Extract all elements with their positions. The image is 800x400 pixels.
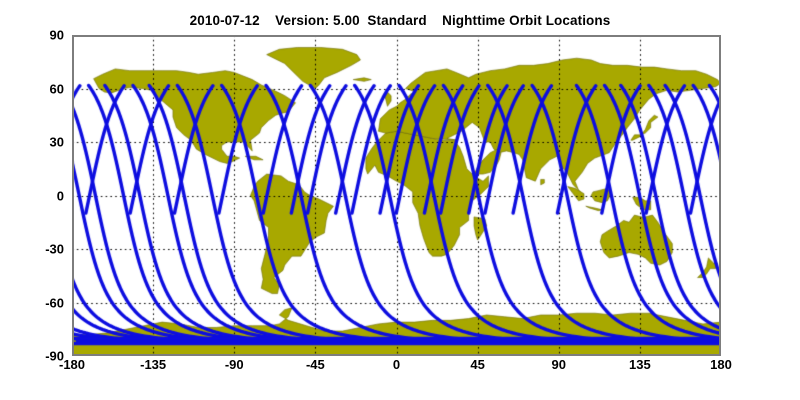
x-tick-label: -180 bbox=[37, 357, 107, 372]
y-tick-label: 0 bbox=[4, 188, 64, 203]
figure-title: 2010-07-12 Version: 5.00 Standard Nightt… bbox=[0, 13, 800, 28]
plot-frame bbox=[72, 35, 721, 356]
x-tick-label: -135 bbox=[118, 357, 188, 372]
x-tick-label: 135 bbox=[605, 357, 675, 372]
y-tick-label: 60 bbox=[4, 81, 64, 96]
x-tick-label: -45 bbox=[280, 357, 350, 372]
y-tick-label: -60 bbox=[4, 295, 64, 310]
x-tick-label: -90 bbox=[199, 357, 269, 372]
plot-area bbox=[72, 35, 721, 356]
y-tick-label: -30 bbox=[4, 242, 64, 257]
x-tick-label: 180 bbox=[686, 357, 756, 372]
orbit-map-figure: 2010-07-12 Version: 5.00 Standard Nightt… bbox=[0, 0, 800, 400]
x-tick-label: 0 bbox=[362, 357, 432, 372]
x-tick-label: 45 bbox=[443, 357, 513, 372]
y-tick-label: 90 bbox=[4, 28, 64, 43]
x-tick-label: 90 bbox=[524, 357, 594, 372]
y-tick-label: 30 bbox=[4, 135, 64, 150]
